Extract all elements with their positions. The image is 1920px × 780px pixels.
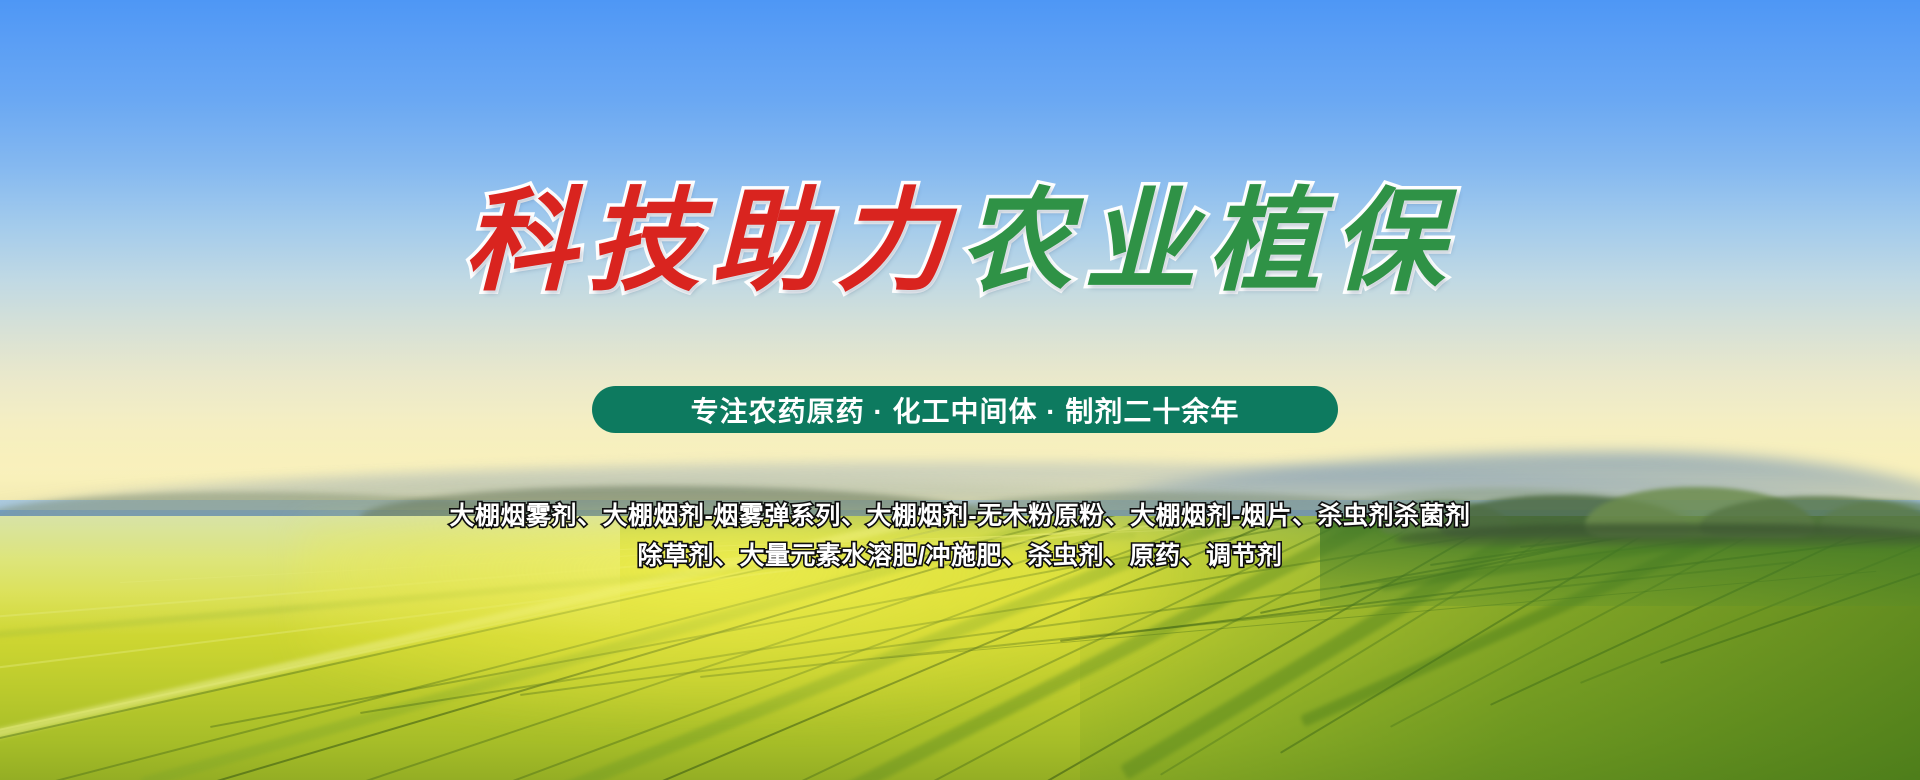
tagline-pill-text: 专注农药原药 · 化工中间体 · 制剂二十余年: [691, 390, 1240, 430]
field-sunlight-glow: [300, 520, 1200, 720]
tagline-pill: 专注农药原药 · 化工中间体 · 制剂二十余年: [592, 386, 1338, 433]
banner-stage: 科技助力农业植保 专注农药原药 · 化工中间体 · 制剂二十余年 大棚烟雾剂、大…: [0, 0, 1920, 780]
hedgerow-right: [1395, 524, 1920, 546]
